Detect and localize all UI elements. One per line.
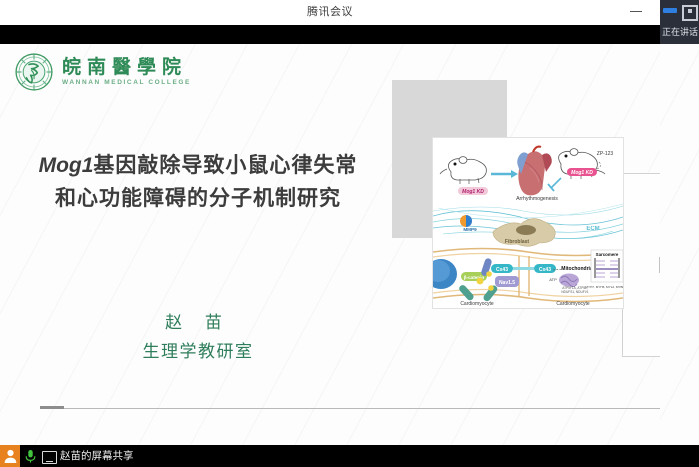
svg-text:Arrhythmogenesis: Arrhythmogenesis xyxy=(516,196,558,202)
svg-text:MYH7, MYH6, MYL2, MYBPC3: MYH7, MYH6, MYL2, MYBPC3 xyxy=(585,285,623,289)
screen-root: 腾讯会议 正在讲话 皖南醫學院 xyxy=(0,0,699,467)
placeholder-resize-handle[interactable] xyxy=(659,257,660,273)
svg-text:Mog1 KD: Mog1 KD xyxy=(571,170,593,176)
presentation-slide[interactable]: 皖南醫學院 WANNAN MEDICAL COLLEGE Mog1基因敲除导致小… xyxy=(0,44,660,445)
meeting-control-panel: 正在讲话 xyxy=(660,0,699,45)
diagram-svg: Mog1 KD Arrhythmogenesis xyxy=(433,138,623,308)
screen-share-black-strip xyxy=(0,25,660,44)
microphone-icon[interactable] xyxy=(24,449,37,463)
svg-text:Cx43: Cx43 xyxy=(539,267,551,273)
speaking-status-badge: 正在讲话 xyxy=(662,24,699,40)
svg-text:Cx43: Cx43 xyxy=(496,267,508,273)
slide-author-block[interactable]: 赵 苗 生理学教研室 xyxy=(18,309,378,365)
svg-text:ECM: ECM xyxy=(586,226,599,232)
svg-text:ATP: ATP xyxy=(549,277,557,282)
svg-text:Mog1 KD: Mog1 KD xyxy=(462,189,484,195)
college-logo: 皖南醫學院 WANNAN MEDICAL COLLEGE xyxy=(14,52,191,92)
user-avatar-icon[interactable] xyxy=(0,445,20,467)
author-name: 赵 苗 xyxy=(18,309,378,338)
mog1-knockout-mechanism-diagram[interactable]: Mog1 KD Arrhythmogenesis xyxy=(432,137,624,309)
slide-title-line-2: 和心功能障碍的分子机制研究 xyxy=(18,183,378,216)
svg-text:ZP-123: ZP-123 xyxy=(597,151,614,157)
svg-text:Mitochondria: Mitochondria xyxy=(561,266,593,272)
svg-text:Fibroblast: Fibroblast xyxy=(505,239,530,245)
svg-text:NDUFS1, NDUFV1: NDUFS1, NDUFV1 xyxy=(561,290,589,294)
college-name-cn: 皖南醫學院 xyxy=(62,58,191,78)
window-title: 腾讯会议 xyxy=(0,0,660,25)
svg-text:MMP9: MMP9 xyxy=(463,227,477,232)
gene-name: Mog1 xyxy=(39,154,94,177)
wannan-medical-college-seal-icon xyxy=(14,52,54,92)
slide-title[interactable]: Mog1基因敲除导致小鼠心律失常 和心功能障碍的分子机制研究 xyxy=(18,150,378,215)
screen-share-icon[interactable] xyxy=(42,451,57,464)
slide-divider-line xyxy=(40,408,660,409)
svg-text:Nav1.5: Nav1.5 xyxy=(499,280,515,286)
svg-text:Cardiomyocyte: Cardiomyocyte xyxy=(460,301,494,307)
taskbar: 赵苗的屏幕共享 xyxy=(0,445,699,467)
svg-text:Sarcomere: Sarcomere xyxy=(596,252,619,257)
panel-minimize-icon[interactable] xyxy=(663,8,677,13)
college-name-en: WANNAN MEDICAL COLLEGE xyxy=(62,79,191,86)
minimize-icon[interactable] xyxy=(630,11,642,12)
author-department: 生理学教研室 xyxy=(18,338,378,365)
screen-share-label: 赵苗的屏幕共享 xyxy=(60,445,134,467)
slide-divider-cap xyxy=(40,406,64,409)
svg-text:Cardiomyocyte: Cardiomyocyte xyxy=(556,301,590,307)
mitochondria-icon xyxy=(559,274,579,287)
slide-title-line-1-rest: 基因敲除导致小鼠心律失常 xyxy=(93,154,357,177)
slide-right-margin xyxy=(660,44,699,445)
panel-maximize-icon[interactable] xyxy=(682,5,698,21)
empty-content-placeholder[interactable] xyxy=(622,173,660,357)
slide-title-line-1: Mog1基因敲除导致小鼠心律失常 xyxy=(18,150,378,183)
window-title-bar: 腾讯会议 xyxy=(0,0,660,26)
